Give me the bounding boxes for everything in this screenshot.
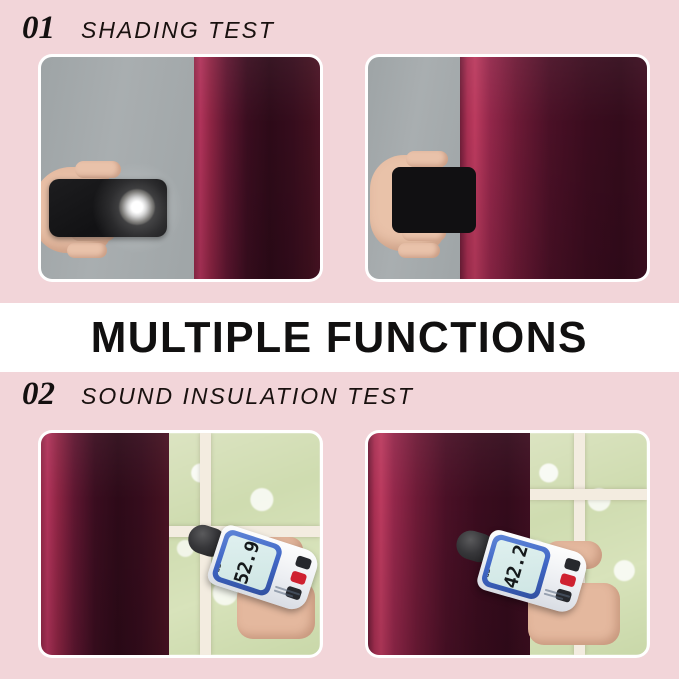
section-heading-02: 02 SOUND INSULATION TEST	[22, 378, 414, 411]
infographic-page: 01 SHADING TEST	[0, 0, 679, 679]
banner: MULTIPLE FUNCTIONS	[0, 303, 679, 372]
section-number-01: 01	[22, 12, 55, 45]
window-mullion-horizontal	[527, 489, 647, 500]
finger-icon	[406, 151, 448, 167]
curtain-fold-shading	[41, 433, 169, 655]
curtain-fabric	[460, 57, 647, 279]
meter-button-power[interactable]	[290, 570, 308, 585]
meter-brand-logo	[542, 587, 572, 607]
panel-image-shading-light-blocked	[368, 57, 647, 279]
curtain-fabric	[194, 57, 320, 279]
panel-image-sound-curtain-closed: 42.2 dB	[368, 433, 647, 655]
section-number-02: 02	[22, 378, 55, 411]
meter-button-max[interactable]	[295, 555, 313, 570]
curtain-fold-shading	[194, 57, 320, 279]
panel-shading-light-blocked	[365, 54, 650, 282]
panel-image-sound-window-open: 52.9 dB	[41, 433, 320, 655]
smartphone	[392, 167, 476, 233]
panel-image-shading-light-on	[41, 57, 320, 279]
finger-icon	[67, 243, 107, 258]
meter-button-power[interactable]	[559, 573, 576, 588]
meter-button-max[interactable]	[564, 557, 581, 572]
meter-reading-value: 52.9	[230, 539, 264, 587]
section-label-02: SOUND INSULATION TEST	[81, 385, 414, 408]
curtain-fold-shading	[460, 57, 647, 279]
meter-brand-logo	[272, 584, 303, 605]
section-heading-01: 01 SHADING TEST	[22, 12, 275, 45]
panel-sound-window-open: 52.9 dB	[38, 430, 323, 658]
meter-reading-value: 42.2	[500, 543, 533, 591]
banner-title: MULTIPLE FUNCTIONS	[91, 313, 588, 363]
flashlight-beam-icon	[119, 189, 155, 225]
panel-sound-curtain-closed: 42.2 dB	[365, 430, 650, 658]
finger-icon	[398, 243, 440, 258]
curtain-fabric	[41, 433, 169, 655]
panel-shading-light-on	[38, 54, 323, 282]
section-label-01: SHADING TEST	[81, 19, 275, 42]
